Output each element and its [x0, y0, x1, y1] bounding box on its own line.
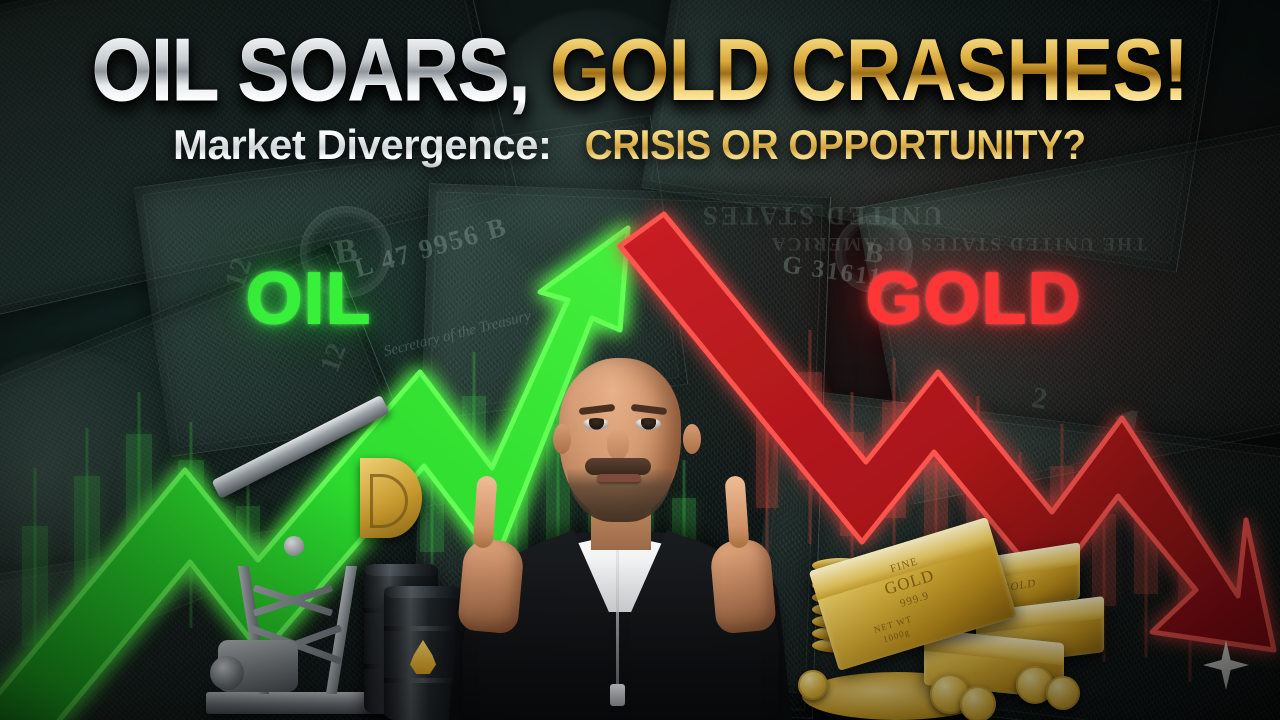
right-hand [709, 538, 777, 635]
title-oil-soars: OIL SOARS, [92, 20, 529, 119]
ear [683, 424, 701, 454]
rig-base [206, 692, 382, 714]
gold-neon-label: GOLD [866, 258, 1082, 340]
nose [607, 430, 629, 460]
title-line-1: OIL SOARS, GOLD CRASHES! [77, 28, 1203, 112]
gold-coin [798, 670, 828, 700]
presenter-person [455, 350, 785, 720]
left-pointing-finger [473, 475, 498, 548]
subtitle-market-divergence: Market Divergence: [173, 121, 552, 168]
rig-wheel [210, 656, 244, 690]
title-spacer [529, 20, 550, 119]
title-block: OIL SOARS, GOLD CRASHES! Market Divergen… [0, 28, 1280, 166]
gold-coin [1046, 676, 1080, 710]
rig-pivot [284, 536, 304, 556]
moustache [585, 458, 651, 475]
eye [583, 418, 609, 430]
barrel-rib [384, 678, 462, 683]
mouth [597, 474, 641, 482]
left-hand [457, 538, 525, 635]
subtitle-spacer [551, 121, 562, 168]
right-pointing-finger [725, 475, 750, 548]
zipper-pull [610, 684, 625, 706]
barrel-lid [364, 564, 438, 576]
gold-coin [960, 686, 996, 720]
eye [635, 418, 661, 430]
ear [553, 424, 571, 454]
barrel-lid [384, 586, 462, 598]
title-gold-crashes: GOLD CRASHES! [550, 20, 1188, 119]
oil-drop-emblem [410, 640, 436, 674]
gold-bars-group: GOLD FINE GOLD 999.9 NET WT 1000g [806, 524, 1076, 720]
thumbnail-canvas: B B L 47 9956 B G 31611 Secretary of the… [0, 0, 1280, 720]
title-line-2: Market Divergence: CRISIS OR OPPORTUNITY… [0, 124, 1280, 166]
barrel-rib [384, 626, 462, 631]
jacket-zipper [616, 546, 619, 696]
subtitle-crisis-or-opportunity: CRISIS OR OPPORTUNITY? [584, 124, 1085, 166]
oil-neon-label: OIL [246, 258, 372, 340]
